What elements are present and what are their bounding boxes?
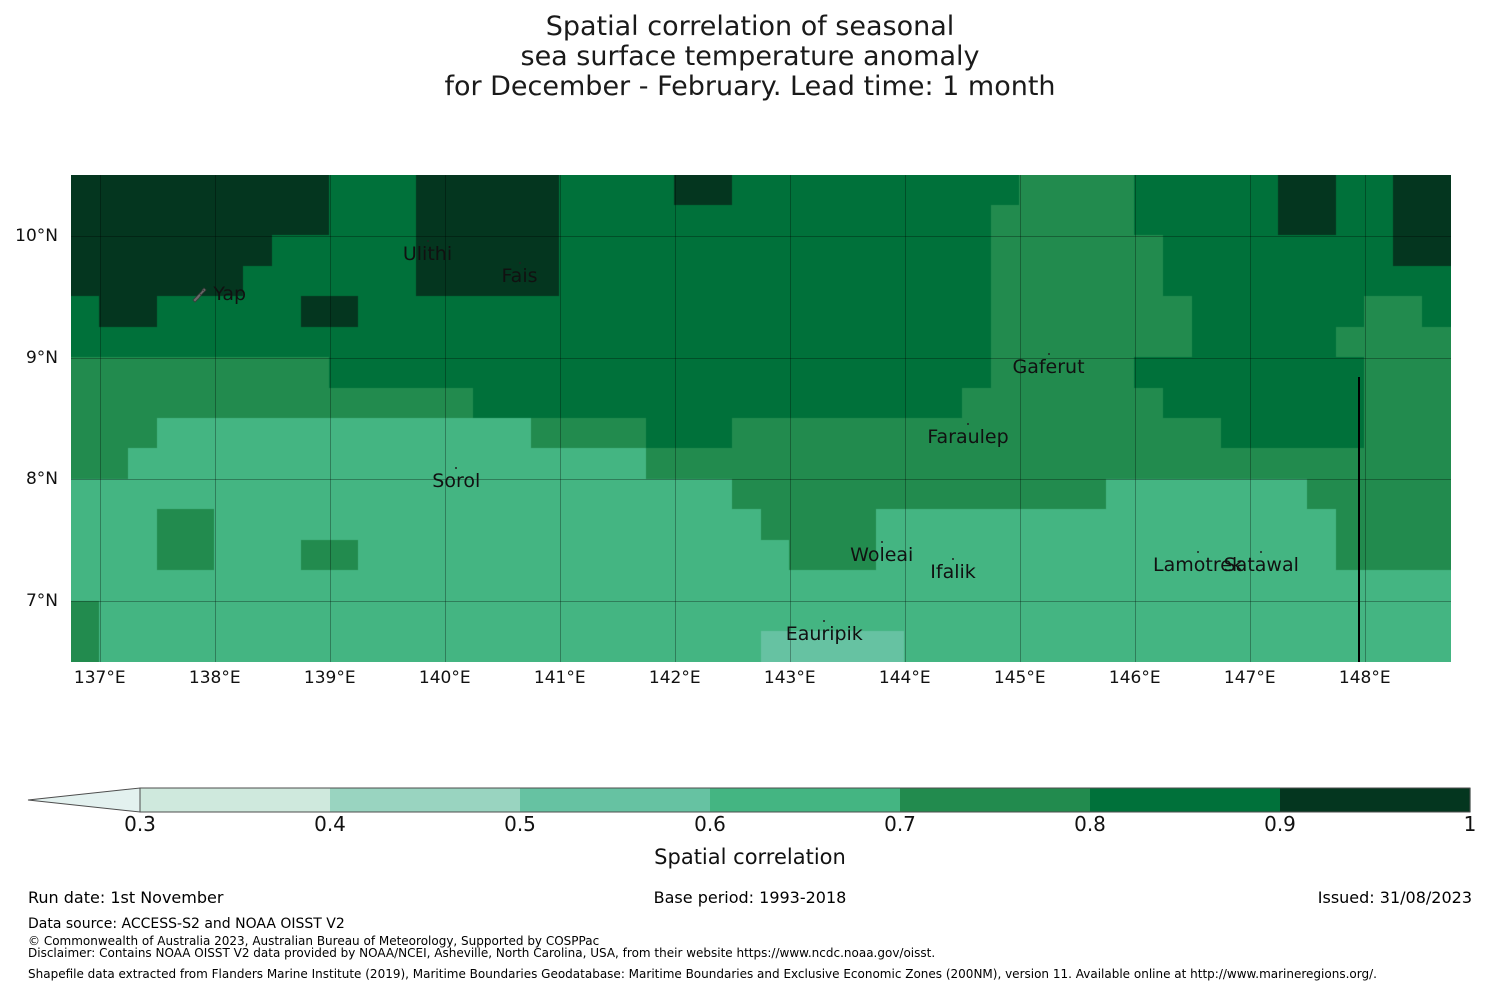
colorbar-band — [900, 788, 1091, 812]
heatmap-canvas — [71, 175, 1451, 662]
colorbar-tick-label: 0.5 — [504, 812, 536, 836]
x-axis-tick-label: 146°E — [1109, 668, 1161, 688]
colorbar-band — [710, 788, 901, 812]
footer-disclaimer: Disclaimer: Contains NOAA OISST V2 data … — [28, 946, 935, 960]
island-label-satawal: Satawal — [1224, 554, 1299, 576]
island-marker-dot — [1048, 353, 1050, 355]
map-plot-area: YapUlithiFaisGaferutFaraulepSorolWoleaiI… — [71, 175, 1451, 662]
island-marker-dot — [1197, 551, 1199, 553]
colorbar-tick-label: 0.9 — [1264, 812, 1296, 836]
island-label-yap: Yap — [213, 283, 246, 305]
eez-boundary-line — [1358, 377, 1360, 662]
x-axis-tick-label: 144°E — [879, 668, 931, 688]
y-axis-tick-label: 9°N — [0, 348, 58, 368]
island-marker-dot — [823, 620, 825, 622]
colorbar-label: Spatial correlation — [0, 845, 1500, 869]
island-marker-dot — [519, 262, 521, 264]
island-label-woleai: Woleai — [850, 544, 913, 566]
x-axis-tick-label: 139°E — [304, 668, 356, 688]
island-marker-dot — [952, 558, 954, 560]
x-axis-tick-label: 147°E — [1224, 668, 1276, 688]
island-marker-dot — [427, 240, 429, 242]
correlation-heatmap — [71, 175, 1451, 662]
footer-issued-date: Issued: 31/08/2023 — [1318, 888, 1472, 907]
colorbar-band — [330, 788, 521, 812]
x-axis-tick-label: 142°E — [649, 668, 701, 688]
footer-shapefile-credit: Shapefile data extracted from Flanders M… — [28, 967, 1377, 981]
colorbar-tick-label: 0.8 — [1074, 812, 1106, 836]
footer-base-period: Base period: 1993-2018 — [0, 888, 1500, 907]
island-label-faraulep: Faraulep — [927, 426, 1008, 448]
colorbar-tick-label: 0.6 — [694, 812, 726, 836]
x-axis-tick-label: 137°E — [74, 668, 126, 688]
yap-island-icon — [190, 285, 210, 305]
y-axis-tick-label: 7°N — [0, 591, 58, 611]
x-axis-tick-label: 138°E — [189, 668, 241, 688]
island-label-sorol: Sorol — [432, 470, 480, 492]
island-label-fais: Fais — [501, 265, 537, 287]
island-label-gaferut: Gaferut — [1012, 356, 1084, 378]
y-axis-tick-label: 8°N — [0, 469, 58, 489]
colorbar-extend-min — [28, 788, 140, 812]
x-axis-tick-label: 148°E — [1339, 668, 1391, 688]
x-axis-tick-label: 143°E — [764, 668, 816, 688]
island-label-ulithi: Ulithi — [403, 243, 452, 265]
page-title: Spatial correlation of seasonal sea surf… — [0, 12, 1500, 102]
island-marker-dot — [1260, 551, 1262, 553]
colorbar-band — [520, 788, 711, 812]
colorbar-tick-label: 1 — [1464, 812, 1477, 836]
colorbar-band — [1280, 788, 1471, 812]
colorbar-band — [140, 788, 331, 812]
x-axis-tick-label: 141°E — [534, 668, 586, 688]
island-marker-dot — [967, 423, 969, 425]
footer-data-source: Data source: ACCESS-S2 and NOAA OISST V2 — [28, 916, 345, 932]
colorbar-tick-label: 0.7 — [884, 812, 916, 836]
colorbar-tick-label: 0.3 — [124, 812, 156, 836]
x-axis-tick-label: 145°E — [994, 668, 1046, 688]
island-marker-dot — [881, 541, 883, 543]
colorbar-tick-label: 0.4 — [314, 812, 346, 836]
island-label-ifalik: Ifalik — [930, 561, 976, 583]
island-label-eauripik: Eauripik — [786, 623, 863, 645]
island-marker-dot — [455, 467, 457, 469]
x-axis-tick-label: 140°E — [419, 668, 471, 688]
colorbar-band — [1090, 788, 1281, 812]
y-axis-tick-label: 10°N — [0, 226, 58, 246]
